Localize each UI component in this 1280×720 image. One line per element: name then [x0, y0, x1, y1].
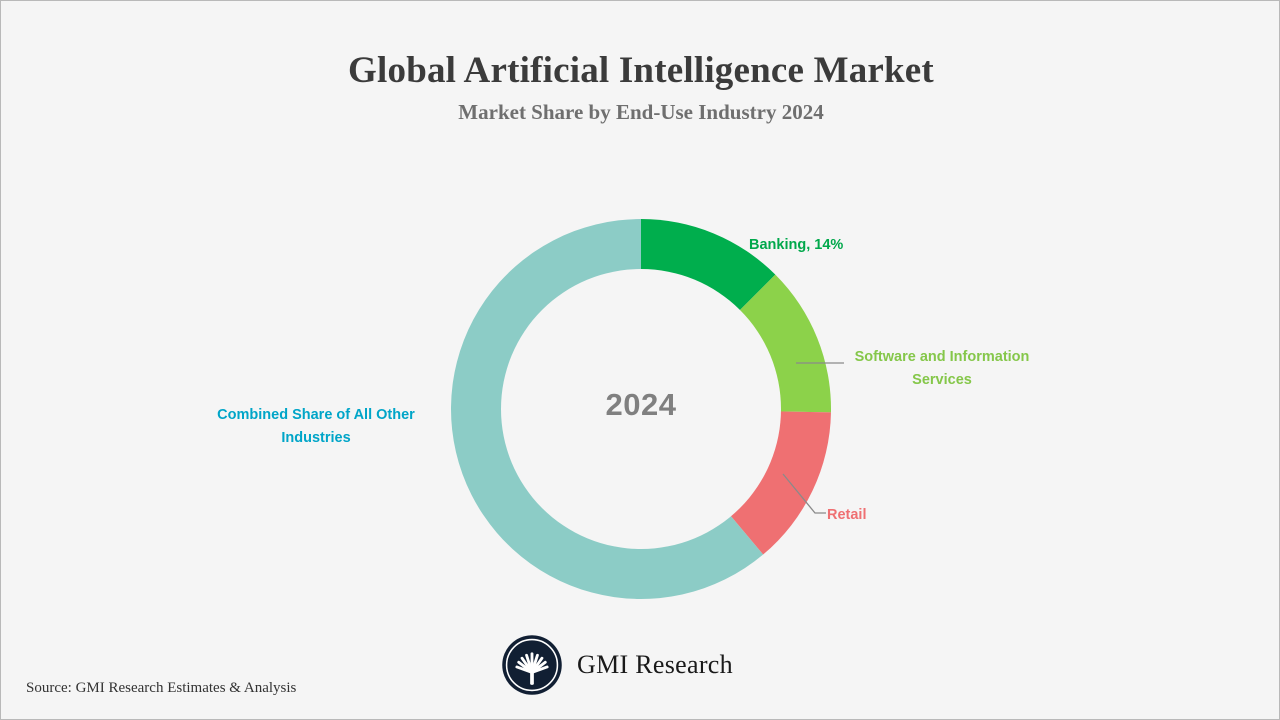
slice-label-retail-text: Retail: [827, 507, 867, 523]
slice-label-other-line1: Combined Share of All Other: [176, 404, 456, 427]
page-subtitle: Market Share by End-Use Industry 2024: [1, 100, 1280, 125]
slice-label-banking-text: Banking, 14%: [749, 237, 843, 253]
brand-block: GMI Research: [501, 634, 733, 696]
source-note: Source: GMI Research Estimates & Analysi…: [26, 680, 296, 697]
slice-label-banking: Banking, 14%: [749, 234, 843, 257]
slice-label-other-line2: Industries: [176, 427, 456, 450]
slice-label-retail: Retail: [827, 504, 867, 527]
slice-label-software-line2: Services: [837, 369, 1047, 392]
donut-center-year: 2024: [441, 387, 841, 423]
slice-label-software: Software and Information Services: [837, 346, 1047, 392]
page-title: Global Artificial Intelligence Market: [1, 51, 1280, 92]
slice-label-other: Combined Share of All Other Industries: [176, 404, 456, 450]
chart-canvas: Global Artificial Intelligence Market Ma…: [0, 0, 1280, 720]
slice-label-software-line1: Software and Information: [837, 346, 1047, 369]
gmi-palm-logo-icon: [501, 634, 563, 696]
brand-name: GMI Research: [577, 650, 733, 680]
